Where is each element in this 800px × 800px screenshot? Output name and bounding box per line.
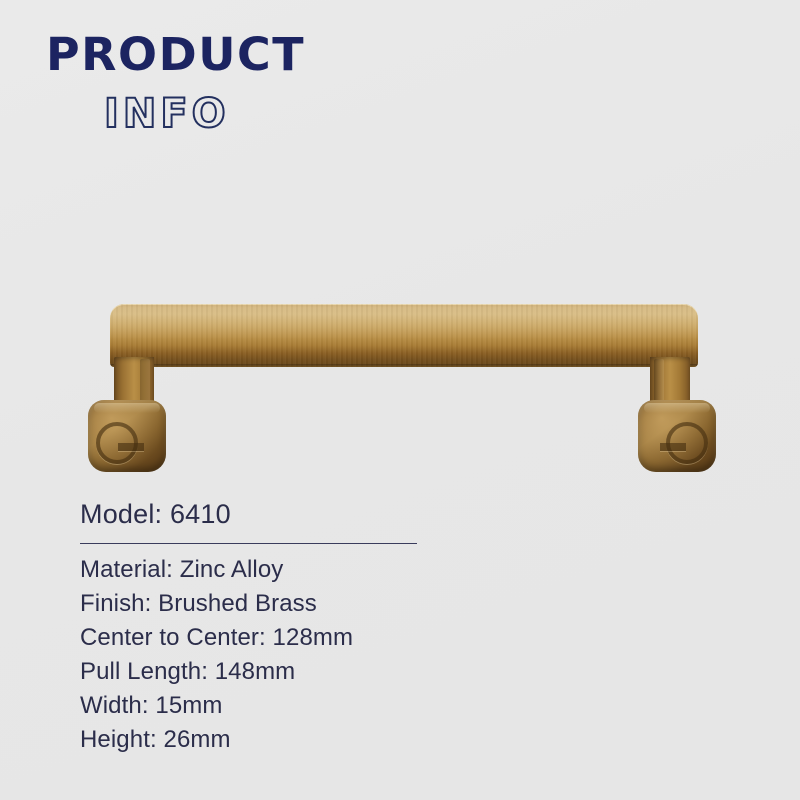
spec-item-pull-length: Pull Length: 148mm — [80, 655, 700, 689]
handle-foot-right-highlight — [644, 403, 710, 413]
spec-list: Material: Zinc Alloy Finish: Brushed Bra… — [80, 553, 700, 757]
handle-bar-lower-lip — [110, 364, 698, 367]
page-title: PRODUCT — [46, 32, 305, 77]
handle-foot-left-highlight — [94, 403, 160, 413]
handle-bar — [110, 304, 698, 367]
handle-foot-left — [88, 400, 166, 472]
product-image-stage — [0, 250, 800, 480]
handle-foot-left-bar-detail — [118, 443, 144, 451]
handle-foot-right-bar-detail — [660, 443, 686, 451]
spec-item-width: Width: 15mm — [80, 689, 700, 723]
header: PRODUCT INFO — [0, 0, 800, 160]
spec-item-center-to-center: Center to Center: 128mm — [80, 621, 700, 655]
spec-item-material: Material: Zinc Alloy — [80, 553, 700, 587]
specifications: Model: 6410 Material: Zinc Alloy Finish:… — [80, 498, 700, 757]
handle-bar-brushed-texture — [110, 304, 698, 367]
spec-item-finish: Finish: Brushed Brass — [80, 587, 700, 621]
page-subtitle: INFO — [104, 94, 230, 134]
handle-foot-right — [638, 400, 716, 472]
spec-item-height: Height: 26mm — [80, 723, 700, 757]
cabinet-pull-handle-icon — [88, 300, 716, 490]
model-number: Model: 6410 — [80, 498, 700, 532]
specs-divider — [80, 543, 417, 544]
product-info-card: PRODUCT INFO — [0, 0, 800, 800]
